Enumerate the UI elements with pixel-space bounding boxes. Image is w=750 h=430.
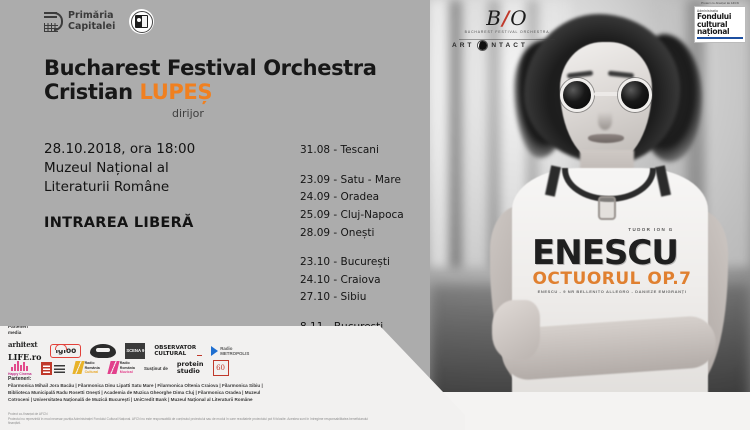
media-logo-row-1: arhitext LIFE.ro igloo SCENA 9 OBSERVATO… [8,340,249,362]
afcn-badge-box: Administrația Fondului cultural național [694,6,746,43]
lens-left [560,78,594,112]
tour-date-row: 23.09 - Satu - Mare [300,172,430,190]
institution-logos: Primăria Capitalei [44,9,154,34]
conductor-role: dirijor [172,107,377,120]
conductor-first-name: Cristian [44,80,140,104]
conductor-last-name: LUPEȘ [140,80,213,104]
lens-right [618,78,652,112]
radio-romania-muzical-logo: Radio România Muzical [109,361,135,374]
tour-date-row: 24.10 - Craiova [300,272,430,290]
igloo-logo: igloo [50,344,81,358]
happy-cinema-bars-icon [11,361,28,371]
artcontact-logo: ART NTACT [452,40,528,51]
afcn-top-note: Proiect co-finanțat de AFCN [694,2,746,5]
event-details: 28.10.2018, ora 18:00 Muzeul Național al… [44,140,195,197]
partners-line-2: Biblioteca Municipală Radu Rosetti Oneșt… [8,390,408,397]
event-venue-line-1: Muzeul Național al [44,159,195,178]
bfo-letter-o: O [510,6,527,30]
radio-romania-cultural-logo: Radio România Cultural [74,361,100,374]
bfo-logo-subtitle: BUCHAREST FESTIVAL ORCHESTRA [452,30,562,34]
primaria-line-1: Primăria [68,11,115,21]
primaria-capitalei-logo: Primăria Capitalei [44,11,115,32]
shirt-print-micro: ENESCU - 9 NR BELLENITO ALLEGRO - DANIEZ… [508,290,716,294]
media-partners-label-line-2: media [8,330,28,336]
tour-date-row: 27.10 - Sibiu [300,289,430,307]
bfo-logo: B/O BUCHAREST FESTIVAL ORCHESTRA [452,8,562,40]
rrc-line-3: Cultural [85,370,100,374]
radio-muzical-slash-icon [107,361,119,374]
afcn-disclaimer: Proiect co-finanțat de AFCN Proiectul nu… [8,412,438,426]
afcn-logo: Proiect co-finanțat de AFCN Administrați… [694,2,746,43]
rrm-line-3: Muzical [120,370,135,374]
shirt-print-title: ENESCU [494,236,716,270]
free-entry-badge: INTRAREA LIBERĂ [44,215,194,231]
arhitext-life-group: arhitext LIFE.ro [8,340,41,362]
necklace-pendant [598,196,616,220]
artcontact-text-right: NTACT [491,42,528,49]
observator-line-2: CULTURAL [154,351,196,357]
page-title: Bucharest Festival Orchestra Cristian LU… [44,56,377,120]
bmb-lines-icon [54,364,65,373]
partners-line-3: Cotroceni | Universitatea Națională de M… [8,397,408,404]
mouth [588,134,624,143]
glasses-bridge [594,92,620,96]
bmb-mark-icon [41,362,52,375]
tour-date-row: 28.09 - Onești [300,225,430,243]
partners-heading: Parteneri: [8,376,408,382]
event-poster: TUDOR ION G ENESCU OCTUORUL OP.7 ENESCU … [0,0,750,430]
zeppelin-logo [90,344,116,358]
media-logo-row-2: Happy Cinema Radio România Cultural [8,360,229,376]
radio-cultural-slash-icon [72,361,84,374]
title-orchestra: Bucharest Festival Orchestra [44,56,377,80]
supported-by-label: Susținut de [144,366,168,371]
seal-core-icon [135,15,148,28]
shirt-print: TUDOR ION G ENESCU OCTUORUL OP.7 ENESCU … [516,228,716,294]
title-conductor: Cristian LUPEȘ [44,80,377,104]
tour-date-row: 25.09 - Cluj-Napoca [300,207,430,225]
tour-date-group: 23.10 - București24.10 - Craiova27.10 - … [300,254,430,307]
shirt-print-tiny: TUDOR ION G [586,228,716,233]
metropolis-text: Radio METROPOLIS [220,346,249,356]
happy-cinema-text: Happy Cinema [8,372,32,376]
radio-cultural-text: Radio România Cultural [85,361,100,374]
primaria-line-2: Capitalei [68,22,115,32]
tour-date-group: 31.08 - Tescani [300,142,430,160]
arhitext-logo: arhitext [8,340,41,349]
nose [598,112,612,130]
observator-cultural-logo: OBSERVATOR CULTURAL [154,345,202,358]
round-sunglasses-icon [558,78,656,112]
media-partners-label: Parteneri media [8,324,28,336]
disclaimer-line-3: finanțării. [8,421,438,426]
radio-muzical-text: Radio România Muzical [120,361,135,374]
tour-date-group: 23.09 - Satu - Mare24.09 - Oradea25.09 -… [300,172,430,243]
bfo-logo-mark: B/O [452,8,562,28]
bmb-logo [41,362,65,375]
protein-line-2: studio [177,368,204,375]
partners-line-1: Filarmonica Mihail Jora Bacău | Filarmon… [8,383,408,390]
eclipse-moon-icon [477,40,488,51]
sixty-logo: 60 [213,360,229,376]
tour-dates-list: 31.08 - Tescani23.09 - Satu - Mare24.09 … [300,142,430,349]
portrait-photo: TUDOR ION G ENESCU OCTUORUL OP.7 ENESCU … [430,0,750,430]
afcn-line-2c: național [697,28,743,36]
hand [492,300,540,360]
radio-metropolis-logo: Radio METROPOLIS [211,346,249,356]
creart-seal-logo [129,9,154,34]
primaria-capitalei-text: Primăria Capitalei [68,11,115,32]
shirt-print-subtitle: OCTUORUL OP.7 [508,271,716,288]
tour-date-row: 31.08 - Tescani [300,142,430,160]
happy-cinema-logo: Happy Cinema [8,361,32,376]
tour-date-row: 24.09 - Oradea [300,189,430,207]
artcontact-text-left: ART [452,42,474,49]
scena9-logo: SCENA 9 [125,343,145,359]
bfo-letter-b: B [486,6,502,30]
metropolis-line-2: METROPOLIS [220,351,249,356]
afcn-blue-bar [697,37,743,39]
tour-date-row: 23.10 - București [300,254,430,272]
event-datetime: 28.10.2018, ora 18:00 [44,140,195,159]
protein-studio-logo: protein studio [177,361,204,376]
event-venue-line-2: Literaturii Române [44,178,195,197]
primaria-capitalei-icon [44,11,63,32]
partners-text-block: Parteneri: Filarmonica Mihail Jora Bacău… [8,376,408,404]
play-triangle-icon [211,346,218,356]
